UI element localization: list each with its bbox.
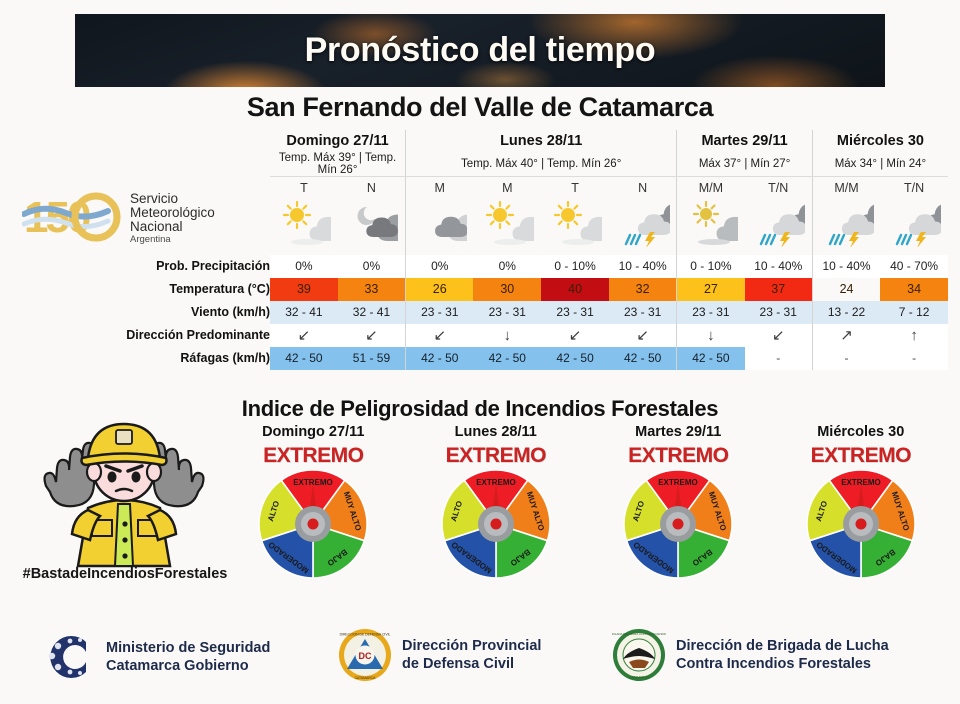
brigada-text: Dirección de Brigada de Lucha Contra Inc… xyxy=(676,637,889,673)
footer-line-2: Catamarca Gobierno xyxy=(106,657,270,675)
fire-gauge-day-2: Martes 29/11 xyxy=(589,424,767,440)
ministerio-c-logo xyxy=(38,628,96,686)
forecast-row-precip: Prob. Precipitación0%0%0%0%0 - 10%10 - 4… xyxy=(18,255,948,278)
cell-gust-2-0: 42 - 50 xyxy=(677,347,745,370)
fire-gauge-1: Lunes 28/11EXTREMOEXTREMOMUY ALTOBAJOMOD… xyxy=(407,424,585,604)
cell-temp-2-0: 27 xyxy=(677,278,745,301)
forecast-row-wind: Viento (km/h)32 - 4132 - 4123 - 3123 - 3… xyxy=(18,301,948,324)
cell-dir-3-0: ↗ xyxy=(812,324,880,347)
storm-icon xyxy=(751,201,805,247)
cell-gust-2-1: - xyxy=(745,347,813,370)
sun-cloud-grey-icon xyxy=(684,201,738,247)
footer-line-1: Ministerio de Seguridad xyxy=(106,639,270,657)
cell-precip-2-1: 10 - 40% xyxy=(745,255,813,278)
cell-precip-1-0: 0% xyxy=(406,255,474,278)
slot-label-3-1: T/N xyxy=(880,177,948,199)
cell-dir-1-3: ↙ xyxy=(609,324,677,347)
day-temps-1: Temp. Máx 40° | Temp. Mín 26° xyxy=(406,152,677,177)
weather-icon-cell-1-1 xyxy=(473,199,541,255)
cell-wind-1-3: 23 - 31 xyxy=(609,301,677,324)
svg-text:DIRECCION DE DEFENSA CIVIL: DIRECCION DE DEFENSA CIVIL xyxy=(340,633,391,637)
spacer-cell xyxy=(18,152,270,177)
cell-precip-2-0: 0 - 10% xyxy=(677,255,745,278)
cell-gust-1-0: 42 - 50 xyxy=(406,347,474,370)
weather-icon-cell-0-0 xyxy=(270,199,338,255)
day-names-row: Domingo 27/11Lunes 28/11Martes 29/11Miér… xyxy=(18,130,948,152)
title-banner: Pronóstico del tiempo xyxy=(75,14,885,87)
fire-gauge-3: Miércoles 30EXTREMOEXTREMOMUY ALTOBAJOMO… xyxy=(772,424,950,604)
day-temps-3: Máx 34° | Mín 24° xyxy=(812,152,948,177)
cell-precip-0-1: 0% xyxy=(338,255,406,278)
spacer-cell xyxy=(18,130,270,152)
slot-label-1-1: M xyxy=(473,177,541,199)
cell-dir-1-2: ↙ xyxy=(541,324,609,347)
forecast-row-temp: Temperatura (°C)39332630403227372434 xyxy=(18,278,948,301)
defensa-civil-text: Dirección Provincial de Defensa Civil xyxy=(402,637,541,673)
cell-temp-3-1: 34 xyxy=(880,278,948,301)
day-name-3: Miércoles 30 xyxy=(812,130,948,152)
weather-icon-cell-2-1 xyxy=(745,199,813,255)
fire-gauge-dial-1: EXTREMOMUY ALTOBAJOMODERADOALTO xyxy=(436,464,556,584)
defensa-civil-logo: DC DIRECCION DE DEFENSA CIVIL CATAMARCA xyxy=(338,628,392,682)
cell-gust-0-1: 51 - 59 xyxy=(338,347,406,370)
weather-icons-row xyxy=(18,199,948,255)
cell-precip-3-0: 10 - 40% xyxy=(812,255,880,278)
fire-gauge-day-3: Miércoles 30 xyxy=(772,424,950,440)
day-temps-2: Máx 37° | Mín 27° xyxy=(677,152,813,177)
cell-temp-1-0: 26 xyxy=(406,278,474,301)
cell-gust-1-3: 42 - 50 xyxy=(609,347,677,370)
cell-wind-2-1: 23 - 31 xyxy=(745,301,813,324)
storm-icon xyxy=(616,201,670,247)
cell-temp-1-1: 30 xyxy=(473,278,541,301)
firefighter-mascot xyxy=(26,412,222,572)
storm-icon xyxy=(820,201,874,247)
brigada-logo: BRIGADA DE LUCHA CONTRA INCENDIOS CATAMA… xyxy=(612,628,666,682)
footer-item-defensa-civil: DC DIRECCION DE DEFENSA CIVIL CATAMARCA … xyxy=(338,628,541,682)
fire-gauge-dial-2: EXTREMOMUY ALTOBAJOMODERADOALTO xyxy=(618,464,738,584)
gauge-hub-2 xyxy=(490,519,501,530)
fire-gauge-dial-0: EXTREMOMUY ALTOBAJOMODERADOALTO xyxy=(253,464,373,584)
forecast-row-gust: Ráfagas (km/h)42 - 5051 - 5942 - 5042 - … xyxy=(18,347,948,370)
svg-text:CATAMARCA: CATAMARCA xyxy=(629,676,649,680)
cell-wind-1-1: 23 - 31 xyxy=(473,301,541,324)
cell-gust-3-1: - xyxy=(880,347,948,370)
smn-logo-spacer xyxy=(18,199,270,255)
fire-gauge-dial-3: EXTREMOMUY ALTOBAJOMODERADOALTO xyxy=(801,464,921,584)
cell-temp-1-3: 32 xyxy=(609,278,677,301)
footer-line-2: Contra Incendios Forestales xyxy=(676,655,889,673)
footer-line-1: Dirección de Brigada de Lucha xyxy=(676,637,889,655)
hashtag-label: #BastadeIncendiosForestales xyxy=(10,566,240,582)
footer-item-brigada: BRIGADA DE LUCHA CONTRA INCENDIOS CATAMA… xyxy=(612,628,889,682)
slot-label-3-0: M/M xyxy=(812,177,880,199)
row-label-precip: Prob. Precipitación xyxy=(18,255,270,278)
gauge-hub-2 xyxy=(855,519,866,530)
weather-icon-cell-0-1 xyxy=(338,199,406,255)
cell-precip-0-0: 0% xyxy=(270,255,338,278)
footer-item-ministerio: Ministerio de Seguridad Catamarca Gobier… xyxy=(38,628,270,686)
day-name-0: Domingo 27/11 xyxy=(270,130,406,152)
fire-gauge-day-0: Domingo 27/11 xyxy=(224,424,402,440)
row-label-wind: Viento (km/h) xyxy=(18,301,270,324)
cell-dir-0-1: ↙ xyxy=(338,324,406,347)
cell-wind-1-2: 23 - 31 xyxy=(541,301,609,324)
footer-line-1: Dirección Provincial xyxy=(402,637,541,655)
day-temps-row: Temp. Máx 39° | Temp. Mín 26°Temp. Máx 4… xyxy=(18,152,948,177)
cell-gust-1-2: 42 - 50 xyxy=(541,347,609,370)
fire-gauge-day-1: Lunes 28/11 xyxy=(407,424,585,440)
cell-dir-2-1: ↙ xyxy=(745,324,813,347)
cell-temp-3-0: 24 xyxy=(812,278,880,301)
svg-text:BRIGADA DE LUCHA CONTRA INCEND: BRIGADA DE LUCHA CONTRA INCENDIOS xyxy=(612,632,666,636)
slot-label-1-3: N xyxy=(609,177,677,199)
cell-precip-1-3: 10 - 40% xyxy=(609,255,677,278)
page-title: Pronóstico del tiempo xyxy=(75,31,885,70)
gauge-hub-2 xyxy=(673,519,684,530)
cell-precip-1-2: 0 - 10% xyxy=(541,255,609,278)
svg-text:CATAMARCA: CATAMARCA xyxy=(355,676,377,680)
cell-wind-2-0: 23 - 31 xyxy=(677,301,745,324)
weather-icon-cell-2-0 xyxy=(677,199,745,255)
dc-badge-text: DC xyxy=(359,651,372,661)
slot-label-2-0: M/M xyxy=(677,177,745,199)
slot-labels-row: TNMMTNM/MT/NM/MT/N xyxy=(18,177,948,199)
cell-temp-0-0: 39 xyxy=(270,278,338,301)
forecast-row-dir: Dirección Predominante↙↙↙↓↙↙↓↙↗↑ xyxy=(18,324,948,347)
cell-wind-0-0: 32 - 41 xyxy=(270,301,338,324)
fire-gauge-0: Domingo 27/11EXTREMOEXTREMOMUY ALTOBAJOM… xyxy=(224,424,402,604)
footer: Ministerio de Seguridad Catamarca Gobier… xyxy=(0,622,960,692)
cell-dir-1-0: ↙ xyxy=(406,324,474,347)
sun-cloud-icon xyxy=(548,201,602,247)
cell-temp-2-1: 37 xyxy=(745,278,813,301)
cell-wind-0-1: 32 - 41 xyxy=(338,301,406,324)
weather-icon-cell-3-1 xyxy=(880,199,948,255)
forecast-table: Domingo 27/11Lunes 28/11Martes 29/11Miér… xyxy=(18,130,948,370)
row-label-temp: Temperatura (°C) xyxy=(18,278,270,301)
fire-gauges-row: Domingo 27/11EXTREMOEXTREMOMUY ALTOBAJOM… xyxy=(222,424,952,604)
cell-wind-1-0: 23 - 31 xyxy=(406,301,474,324)
slot-label-0-0: T xyxy=(270,177,338,199)
weather-icon-cell-1-3 xyxy=(609,199,677,255)
spacer-cell xyxy=(18,177,270,199)
sun-cloud-icon xyxy=(480,201,534,247)
cell-gust-3-0: - xyxy=(812,347,880,370)
row-label-dir: Dirección Predominante xyxy=(18,324,270,347)
weather-icon-cell-1-2 xyxy=(541,199,609,255)
cell-precip-3-1: 40 - 70% xyxy=(880,255,948,278)
day-name-1: Lunes 28/11 xyxy=(406,130,677,152)
cell-gust-0-0: 42 - 50 xyxy=(270,347,338,370)
slot-label-1-2: T xyxy=(541,177,609,199)
row-label-gust: Ráfagas (km/h) xyxy=(18,347,270,370)
cloudy-icon xyxy=(413,201,467,247)
cell-dir-3-1: ↑ xyxy=(880,324,948,347)
footer-line-2: de Defensa Civil xyxy=(402,655,541,673)
city-name: San Fernando del Valle de Catamarca xyxy=(0,92,960,123)
gauge-hub-2 xyxy=(308,519,319,530)
cell-gust-1-1: 42 - 50 xyxy=(473,347,541,370)
weather-icon-cell-3-0 xyxy=(812,199,880,255)
cell-temp-0-1: 33 xyxy=(338,278,406,301)
slot-label-1-0: M xyxy=(406,177,474,199)
weather-icon-cell-1-0 xyxy=(406,199,474,255)
cell-dir-1-1: ↓ xyxy=(473,324,541,347)
slot-label-0-1: N xyxy=(338,177,406,199)
day-temps-0: Temp. Máx 39° | Temp. Mín 26° xyxy=(270,152,406,177)
fire-gauge-2: Martes 29/11EXTREMOEXTREMOMUY ALTOBAJOMO… xyxy=(589,424,767,604)
cell-dir-0-0: ↙ xyxy=(270,324,338,347)
cell-wind-3-1: 7 - 12 xyxy=(880,301,948,324)
slot-label-2-1: T/N xyxy=(745,177,813,199)
moon-cloud-icon xyxy=(344,201,398,247)
storm-icon xyxy=(887,201,941,247)
cell-dir-2-0: ↓ xyxy=(677,324,745,347)
cell-precip-1-1: 0% xyxy=(473,255,541,278)
ministerio-text: Ministerio de Seguridad Catamarca Gobier… xyxy=(106,639,270,675)
day-name-2: Martes 29/11 xyxy=(677,130,813,152)
sun-cloud-icon xyxy=(277,201,331,247)
cell-temp-1-2: 40 xyxy=(541,278,609,301)
cell-wind-3-0: 13 - 22 xyxy=(812,301,880,324)
